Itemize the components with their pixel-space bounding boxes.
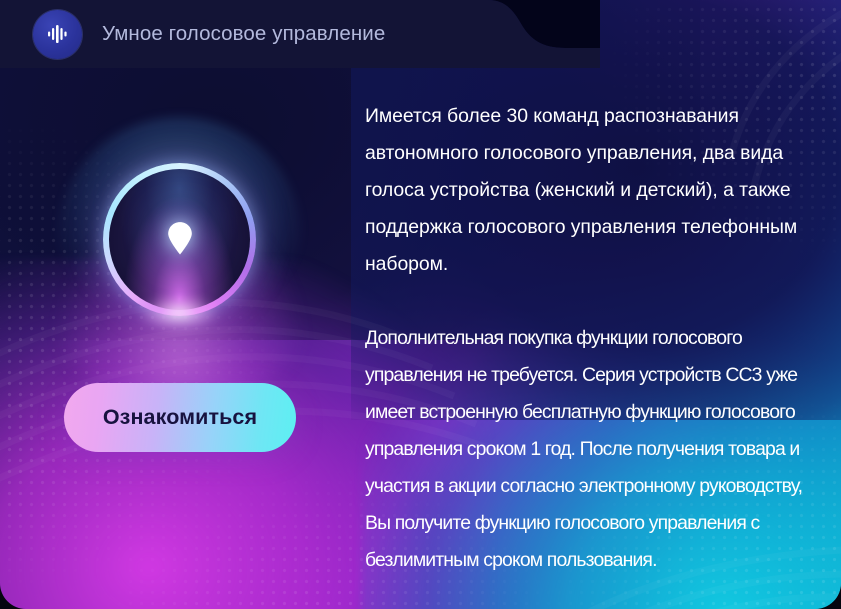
learn-more-button[interactable]: Ознакомиться: [64, 383, 296, 452]
paragraph-2: Дополнительная покупка функции голосовог…: [365, 320, 805, 579]
paragraph-1: Имеется более 30 команд распознавания ав…: [365, 98, 805, 283]
header: Умное голосовое управление: [0, 0, 600, 68]
voice-assistant-orb: [103, 163, 256, 316]
description-text: Имеется более 30 команд распознавания ав…: [365, 98, 805, 579]
sound-wave-icon: [33, 10, 82, 59]
teardrop-pin-icon: [167, 221, 193, 254]
page-title: Умное голосовое управление: [102, 22, 385, 46]
orb-bottom-highlight: [139, 296, 219, 330]
voice-control-promo-card: Умное голосовое управление Ознакомиться …: [0, 0, 841, 609]
